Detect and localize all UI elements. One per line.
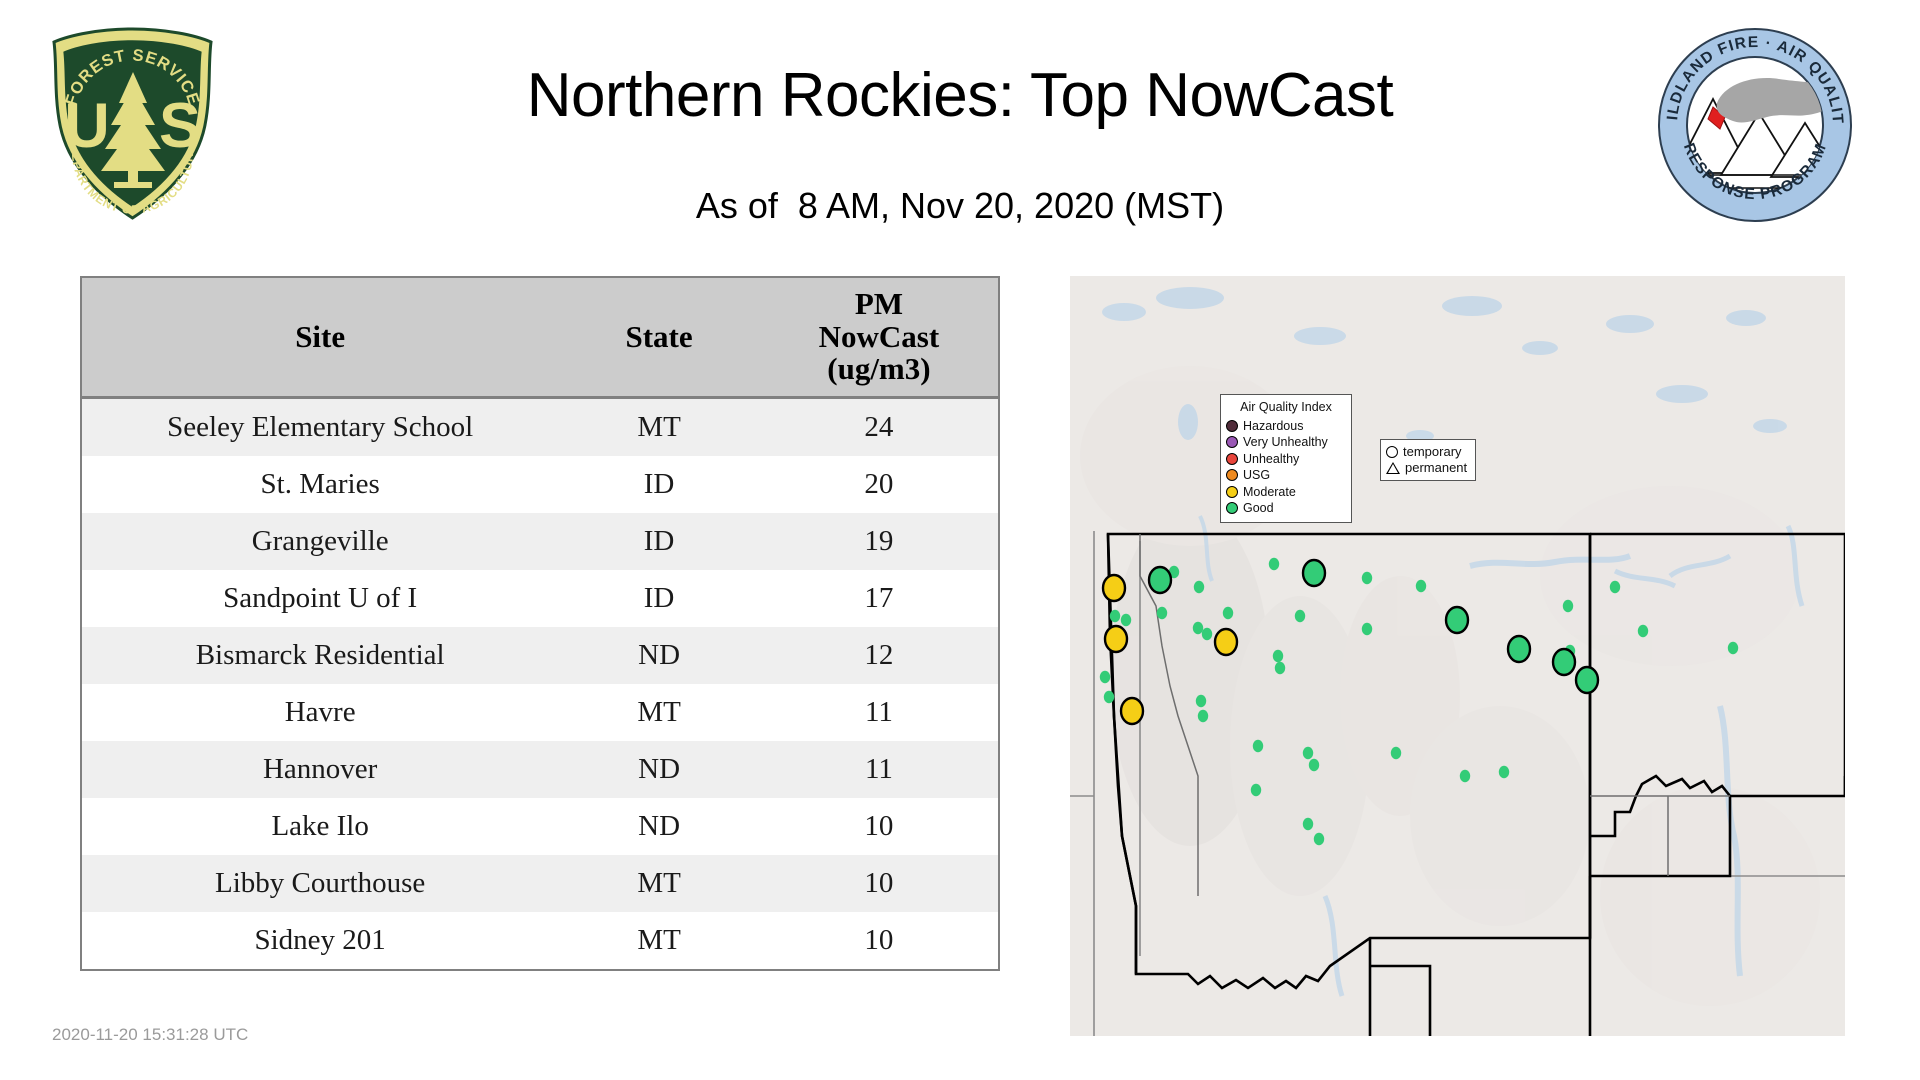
cell-state: MT bbox=[558, 397, 760, 456]
monitor-dot[interactable] bbox=[1194, 581, 1204, 593]
table-row[interactable]: Libby CourthouseMT10 bbox=[82, 855, 998, 912]
cell-site: Bismarck Residential bbox=[82, 627, 558, 684]
monitor-dot[interactable] bbox=[1121, 614, 1131, 626]
cell-state: ND bbox=[558, 798, 760, 855]
monitor-dot[interactable] bbox=[1157, 607, 1167, 619]
aqi-swatch-icon bbox=[1226, 502, 1238, 514]
aqi-legend-row: Moderate bbox=[1226, 484, 1346, 501]
cell-value: 19 bbox=[760, 513, 998, 570]
page-title: Northern Rockies: Top NowCast bbox=[300, 60, 1620, 131]
cell-state: ND bbox=[558, 741, 760, 798]
cell-value: 24 bbox=[760, 397, 998, 456]
monitor-dot[interactable] bbox=[1273, 650, 1283, 662]
column-header-pm-line2: NowCast bbox=[819, 319, 940, 354]
legend-row-temporary: temporary bbox=[1386, 444, 1467, 460]
column-header-pm-line3: (ug/m3) bbox=[827, 351, 930, 386]
aqi-legend-label: Very Unhealthy bbox=[1243, 434, 1328, 451]
aqi-legend-row: USG bbox=[1226, 467, 1346, 484]
marker-type-legend: temporary permanent bbox=[1380, 439, 1476, 481]
table-row[interactable]: Bismarck ResidentialND12 bbox=[82, 627, 998, 684]
monitor-dot[interactable] bbox=[1460, 770, 1470, 782]
aqi-legend-row: Very Unhealthy bbox=[1226, 434, 1346, 451]
monitor-dot[interactable] bbox=[1196, 695, 1206, 707]
aqi-swatch-icon bbox=[1226, 453, 1238, 465]
aqi-swatch-icon bbox=[1226, 436, 1238, 448]
legend-label-permanent: permanent bbox=[1405, 460, 1467, 476]
wildland-fire-air-quality-logo: WILDLAND FIRE · AIR QUALITY RESPONSE PRO… bbox=[1655, 25, 1855, 225]
cell-state: MT bbox=[558, 684, 760, 741]
table-row[interactable]: Sandpoint U of IID17 bbox=[82, 570, 998, 627]
legend-row-permanent: permanent bbox=[1386, 460, 1467, 476]
monitor-dot[interactable] bbox=[1499, 766, 1509, 778]
table-row[interactable]: Lake IloND10 bbox=[82, 798, 998, 855]
cell-site: Hannover bbox=[82, 741, 558, 798]
monitor-dot[interactable] bbox=[1193, 622, 1203, 634]
aqi-swatch-icon bbox=[1226, 469, 1238, 481]
monitor-dot[interactable] bbox=[1198, 710, 1208, 722]
air-quality-map[interactable]: Air Quality Index HazardousVery Unhealth… bbox=[1070, 276, 1845, 1036]
column-header-pm-nowcast: PM NowCast (ug/m3) bbox=[760, 278, 998, 397]
monitor-dot[interactable] bbox=[1563, 600, 1573, 612]
aqi-legend-label: Unhealthy bbox=[1243, 451, 1299, 468]
highlighted-monitor-marker[interactable] bbox=[1446, 607, 1468, 633]
cell-state: MT bbox=[558, 855, 760, 912]
cell-value: 11 bbox=[760, 684, 998, 741]
map-canvas bbox=[1070, 276, 1845, 1036]
column-header-state: State bbox=[558, 278, 760, 397]
monitor-dot[interactable] bbox=[1251, 784, 1261, 796]
table-row[interactable]: St. MariesID20 bbox=[82, 456, 998, 513]
cell-value: 11 bbox=[760, 741, 998, 798]
highlighted-monitor-marker[interactable] bbox=[1553, 649, 1575, 675]
monitor-dot[interactable] bbox=[1303, 747, 1313, 759]
monitor-dot[interactable] bbox=[1303, 818, 1313, 830]
table-body: Seeley Elementary SchoolMT24St. MariesID… bbox=[82, 397, 998, 969]
monitor-dot[interactable] bbox=[1362, 623, 1372, 635]
cell-site: Sandpoint U of I bbox=[82, 570, 558, 627]
aqi-swatch-icon bbox=[1226, 420, 1238, 432]
monitor-dot[interactable] bbox=[1275, 662, 1285, 674]
cell-value: 17 bbox=[760, 570, 998, 627]
aqi-legend: Air Quality Index HazardousVery Unhealth… bbox=[1220, 394, 1352, 523]
cell-site: Grangeville bbox=[82, 513, 558, 570]
table-row[interactable]: Sidney 201MT10 bbox=[82, 912, 998, 969]
aqi-legend-row: Good bbox=[1226, 500, 1346, 517]
highlighted-monitor-marker[interactable] bbox=[1508, 636, 1530, 662]
cell-site: Libby Courthouse bbox=[82, 855, 558, 912]
monitor-dot[interactable] bbox=[1728, 642, 1738, 654]
legend-label-temporary: temporary bbox=[1403, 444, 1462, 460]
highlighted-monitor-marker[interactable] bbox=[1576, 667, 1598, 693]
monitor-dot[interactable] bbox=[1638, 625, 1648, 637]
highlighted-monitor-marker[interactable] bbox=[1105, 626, 1127, 652]
cell-value: 10 bbox=[760, 912, 998, 969]
cell-value: 10 bbox=[760, 798, 998, 855]
cell-site: Lake Ilo bbox=[82, 798, 558, 855]
aqi-legend-label: Hazardous bbox=[1243, 418, 1303, 435]
monitor-dot[interactable] bbox=[1202, 628, 1212, 640]
cell-state: ID bbox=[558, 513, 760, 570]
cell-site: Havre bbox=[82, 684, 558, 741]
monitor-dot[interactable] bbox=[1269, 558, 1279, 570]
aqi-legend-row: Hazardous bbox=[1226, 418, 1346, 435]
cell-value: 12 bbox=[760, 627, 998, 684]
monitor-dot[interactable] bbox=[1295, 610, 1305, 622]
nowcast-table-container: Site State PM NowCast (ug/m3) Seeley Ele… bbox=[80, 276, 1000, 971]
monitor-dot[interactable] bbox=[1110, 610, 1120, 622]
aqi-legend-items: HazardousVery UnhealthyUnhealthyUSGModer… bbox=[1226, 418, 1346, 517]
permanent-monitor-icon bbox=[1386, 462, 1400, 474]
generation-timestamp: 2020-11-20 15:31:28 UTC bbox=[52, 1025, 248, 1045]
table-row[interactable]: HavreMT11 bbox=[82, 684, 998, 741]
table-row[interactable]: GrangevilleID19 bbox=[82, 513, 998, 570]
cell-state: MT bbox=[558, 912, 760, 969]
aqi-legend-row: Unhealthy bbox=[1226, 451, 1346, 468]
aqi-legend-label: Good bbox=[1243, 500, 1274, 517]
table-row[interactable]: HannoverND11 bbox=[82, 741, 998, 798]
usfs-shield-logo: U S FOREST SERVICE DEPARTMENT OF AGRICUL… bbox=[45, 25, 220, 225]
highlighted-monitor-marker[interactable] bbox=[1149, 567, 1171, 593]
cell-value: 20 bbox=[760, 456, 998, 513]
aqi-legend-label: USG bbox=[1243, 467, 1270, 484]
temporary-monitor-icon bbox=[1386, 446, 1398, 458]
page-subtitle: As of 8 AM, Nov 20, 2020 (MST) bbox=[300, 185, 1620, 227]
nowcast-table: Site State PM NowCast (ug/m3) Seeley Ele… bbox=[82, 278, 998, 969]
table-header-row: Site State PM NowCast (ug/m3) bbox=[82, 278, 998, 397]
aqi-legend-title: Air Quality Index bbox=[1226, 399, 1346, 416]
cell-site: St. Maries bbox=[82, 456, 558, 513]
table-row[interactable]: Seeley Elementary SchoolMT24 bbox=[82, 397, 998, 456]
monitor-dot[interactable] bbox=[1416, 580, 1426, 592]
column-header-pm-line1: PM bbox=[855, 286, 903, 321]
monitor-dot[interactable] bbox=[1253, 740, 1263, 752]
monitor-dot[interactable] bbox=[1362, 572, 1372, 584]
slide-root: U S FOREST SERVICE DEPARTMENT OF AGRICUL… bbox=[0, 0, 1920, 1080]
monitor-dot[interactable] bbox=[1223, 607, 1233, 619]
aqi-legend-label: Moderate bbox=[1243, 484, 1296, 501]
monitor-dot[interactable] bbox=[1100, 671, 1110, 683]
monitor-dot[interactable] bbox=[1610, 581, 1620, 593]
monitor-dot[interactable] bbox=[1309, 759, 1319, 771]
cell-state: ID bbox=[558, 570, 760, 627]
monitor-dot[interactable] bbox=[1314, 833, 1324, 845]
cell-state: ND bbox=[558, 627, 760, 684]
monitor-dot[interactable] bbox=[1391, 747, 1401, 759]
cell-site: Seeley Elementary School bbox=[82, 397, 558, 456]
cell-site: Sidney 201 bbox=[82, 912, 558, 969]
highlighted-monitor-marker[interactable] bbox=[1103, 575, 1125, 601]
column-header-site: Site bbox=[82, 278, 558, 397]
monitor-dot[interactable] bbox=[1104, 691, 1114, 703]
highlighted-monitor-marker[interactable] bbox=[1215, 629, 1237, 655]
cell-value: 10 bbox=[760, 855, 998, 912]
highlighted-monitor-marker[interactable] bbox=[1121, 698, 1143, 724]
aqi-swatch-icon bbox=[1226, 486, 1238, 498]
cell-state: ID bbox=[558, 456, 760, 513]
table-header: Site State PM NowCast (ug/m3) bbox=[82, 278, 998, 397]
highlighted-monitor-marker[interactable] bbox=[1303, 560, 1325, 586]
